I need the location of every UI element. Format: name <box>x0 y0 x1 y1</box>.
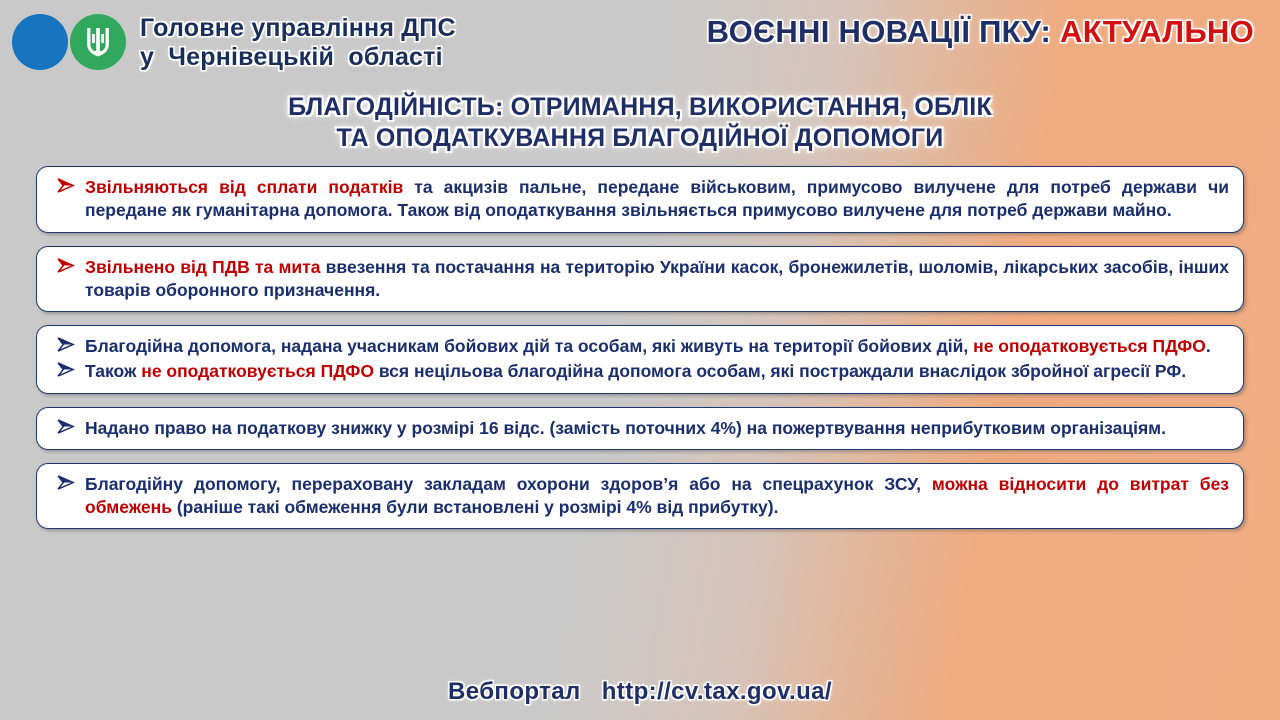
body-text: Благодійну допомогу, перераховану заклад… <box>85 474 932 494</box>
bullet-arrow-icon <box>57 178 77 196</box>
logo-group <box>8 10 132 70</box>
footer: Вебпортал http://cv.tax.gov.ua/ <box>0 678 1280 706</box>
body-text: Надано право на податкову знижку у розмі… <box>85 418 1166 438</box>
bullet-arrow-icon <box>57 337 77 355</box>
slide-header: Головне управління ДПС у Чернівецькій об… <box>0 0 1280 82</box>
footer-url[interactable]: http://cv.tax.gov.ua/ <box>602 678 832 705</box>
bullet-item: Благодійна допомога, надана учасникам бо… <box>51 335 1229 358</box>
body-text: (раніше такі обмеження були встановлені … <box>172 497 779 517</box>
body-text: вся нецільова благодійна допомога особам… <box>374 361 1186 381</box>
slide-subtitle: БЛАГОДІЙНІСТЬ: ОТРИМАННЯ, ВИКОРИСТАННЯ, … <box>0 92 1280 153</box>
bullet-arrow-icon <box>57 258 77 276</box>
content-box: Надано право на податкову знижку у розмі… <box>36 407 1244 450</box>
content-box: Благодійна допомога, надана учасникам бо… <box>36 325 1244 394</box>
content-box: Благодійну допомогу, перераховану заклад… <box>36 463 1244 530</box>
bullet-arrow-icon <box>57 419 77 437</box>
footer-label: Вебпортал <box>448 678 581 705</box>
highlight-text: не оподатковується ПДФО <box>973 336 1206 356</box>
bullet-arrow-icon <box>57 362 77 380</box>
subtitle-line-1: БЛАГОДІЙНІСТЬ: ОТРИМАННЯ, ВИКОРИСТАННЯ, … <box>0 92 1280 123</box>
bullet-item: Надано право на податкову знижку у розмі… <box>51 417 1229 440</box>
content-box: Звільнено від ПДВ та мита ввезення та по… <box>36 246 1244 313</box>
bullet-item: Звільнено від ПДВ та мита ввезення та по… <box>51 256 1229 303</box>
subtitle-line-2: ТА ОПОДАТКУВАННЯ БЛАГОДІЙНОЇ ДОПОМОГИ <box>0 123 1280 154</box>
highlight-text: Звільнено від ПДВ та мита <box>85 257 320 277</box>
header-title: ВОЄННІ НОВАЦІЇ ПКУ: АКТУАЛЬНО <box>707 14 1254 50</box>
tryzub-icon <box>70 14 126 70</box>
blue-circle-icon <box>12 14 68 70</box>
content-box: Звільняються від сплати податків та акци… <box>36 166 1244 233</box>
body-text: Також <box>85 361 141 381</box>
highlight-text: Звільняються від сплати податків <box>85 177 403 197</box>
bullet-item: Благодійну допомогу, перераховану заклад… <box>51 473 1229 520</box>
organization-name: Головне управління ДПС у Чернівецькій об… <box>140 14 456 71</box>
header-title-main: ВОЄННІ НОВАЦІЇ ПКУ: <box>707 14 1051 49</box>
body-text: . <box>1206 336 1211 356</box>
highlight-text: не оподатковується ПДФО <box>141 361 374 381</box>
bullet-item: Також не оподатковується ПДФО вся неціль… <box>51 360 1229 383</box>
body-text: Благодійна допомога, надана учасникам бо… <box>85 336 973 356</box>
header-title-accent: АКТУАЛЬНО <box>1060 14 1254 49</box>
bullet-item: Звільняються від сплати податків та акци… <box>51 176 1229 223</box>
bullet-arrow-icon <box>57 475 77 493</box>
slide-root: Головне управління ДПС у Чернівецькій об… <box>0 0 1280 720</box>
content-boxes: Звільняються від сплати податків та акци… <box>36 166 1244 542</box>
